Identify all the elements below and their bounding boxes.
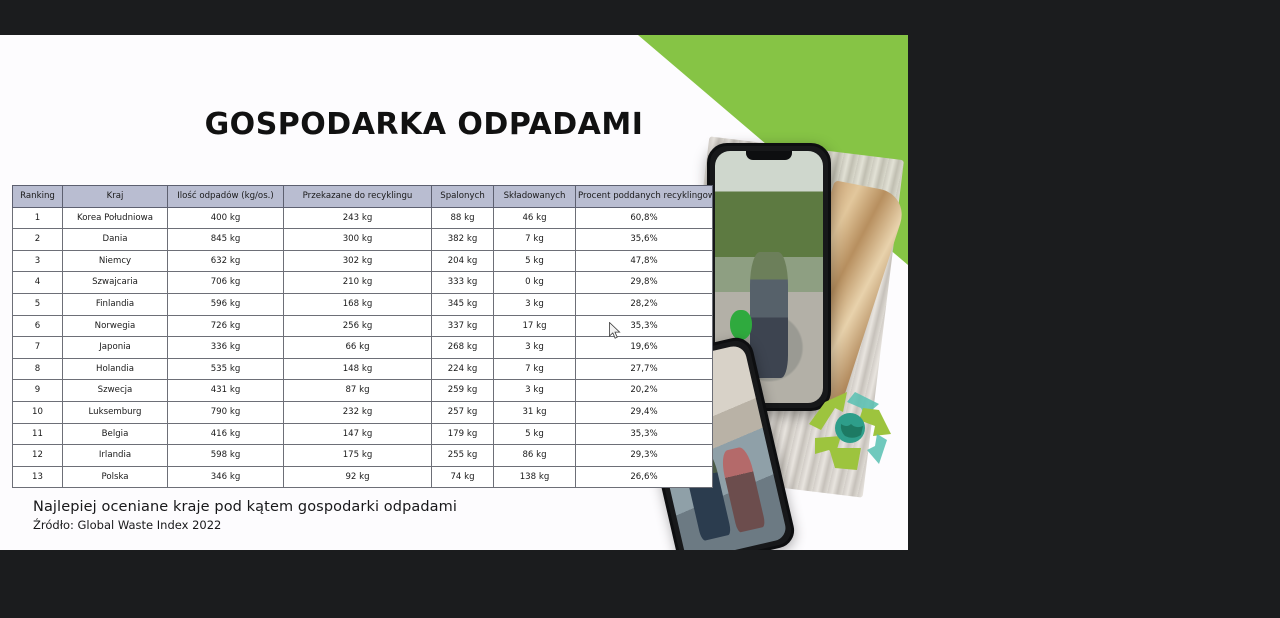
waste-table-container: RankingKrajIlość odpadów (kg/os.)Przekaz… (12, 185, 712, 488)
table-cell: Norwegia (63, 315, 168, 337)
table-cell: Holandia (63, 358, 168, 380)
table-row: 12Irlandia598 kg175 kg255 kg86 kg29,3% (13, 445, 713, 467)
table-cell: 19,6% (576, 337, 713, 359)
table-cell: 7 kg (494, 229, 576, 251)
table-cell: 5 kg (494, 423, 576, 445)
page-title: GOSPODARKA ODPADAMI (0, 107, 908, 142)
table-cell: 31 kg (494, 401, 576, 423)
participants-rail: ABRYS dla środowis Szymon Komosiński K (916, 0, 1280, 618)
table-row: 5Finlandia596 kg168 kg345 kg3 kg28,2% (13, 293, 713, 315)
table-cell: Szwecja (63, 380, 168, 402)
table-cell: 224 kg (432, 358, 494, 380)
table-row: 1Korea Południowa400 kg243 kg88 kg46 kg6… (13, 207, 713, 229)
table-cell: 88 kg (432, 207, 494, 229)
table-cell: 3 kg (494, 337, 576, 359)
table-cell: 29,3% (576, 445, 713, 467)
table-cell: 300 kg (284, 229, 432, 251)
table-cell: 87 kg (284, 380, 432, 402)
table-cell: 9 (13, 380, 63, 402)
table-cell: 256 kg (284, 315, 432, 337)
table-cell: 46 kg (494, 207, 576, 229)
phone-notch (746, 151, 792, 160)
table-cell: 3 (13, 250, 63, 272)
caption-source: Źródło: Global Waste Index 2022 (33, 518, 457, 532)
table-row: 11Belgia416 kg147 kg179 kg5 kg35,3% (13, 423, 713, 445)
table-row: 2Dania845 kg300 kg382 kg7 kg35,6% (13, 229, 713, 251)
table-cell: 257 kg (432, 401, 494, 423)
caption-heading: Najlepiej oceniane kraje pod kątem gospo… (33, 499, 457, 515)
table-cell: 66 kg (284, 337, 432, 359)
table-cell: 12 (13, 445, 63, 467)
table-cell: 29,4% (576, 401, 713, 423)
meeting-window: GOSPODARKA ODPADAMI RankingKrajIlość odp… (0, 0, 1280, 618)
slide-caption: Najlepiej oceniane kraje pod kątem gospo… (33, 499, 457, 532)
table-cell: 179 kg (432, 423, 494, 445)
table-cell: Niemcy (63, 250, 168, 272)
table-cell: 47,8% (576, 250, 713, 272)
table-cell: 13 (13, 466, 63, 488)
table-cell: 3 kg (494, 293, 576, 315)
recycling-arrows-icon (795, 380, 905, 488)
table-cell: 2 (13, 229, 63, 251)
table-cell: 632 kg (168, 250, 284, 272)
table-column-header: Spalonych (432, 186, 494, 208)
table-cell: 345 kg (432, 293, 494, 315)
table-header-row: RankingKrajIlość odpadów (kg/os.)Przekaz… (13, 186, 713, 208)
table-cell: 3 kg (494, 380, 576, 402)
table-row: 9Szwecja431 kg87 kg259 kg3 kg20,2% (13, 380, 713, 402)
table-cell: Szwajcaria (63, 272, 168, 294)
table-row: 3Niemcy632 kg302 kg204 kg5 kg47,8% (13, 250, 713, 272)
table-cell: 845 kg (168, 229, 284, 251)
table-cell: 138 kg (494, 466, 576, 488)
table-cell: 416 kg (168, 423, 284, 445)
table-cell: 148 kg (284, 358, 432, 380)
table-cell: 596 kg (168, 293, 284, 315)
table-cell: 74 kg (432, 466, 494, 488)
shared-screen-slide[interactable]: GOSPODARKA ODPADAMI RankingKrajIlość odp… (0, 35, 908, 550)
table-row: 10Luksemburg790 kg232 kg257 kg31 kg29,4% (13, 401, 713, 423)
table-cell: 168 kg (284, 293, 432, 315)
table-cell: 790 kg (168, 401, 284, 423)
table-body: 1Korea Południowa400 kg243 kg88 kg46 kg6… (13, 207, 713, 488)
table-cell: 4 (13, 272, 63, 294)
table-cell: 210 kg (284, 272, 432, 294)
table-cell: 5 kg (494, 250, 576, 272)
table-cell: 28,2% (576, 293, 713, 315)
table-cell: 8 (13, 358, 63, 380)
table-cell: 29,8% (576, 272, 713, 294)
table-cell: Belgia (63, 423, 168, 445)
table-cell: 302 kg (284, 250, 432, 272)
table-cell: Finlandia (63, 293, 168, 315)
table-cell: Irlandia (63, 445, 168, 467)
table-cell: 232 kg (284, 401, 432, 423)
table-cell: 175 kg (284, 445, 432, 467)
table-cell: 400 kg (168, 207, 284, 229)
table-cell: 268 kg (432, 337, 494, 359)
table-cell: 1 (13, 207, 63, 229)
table-row: 6Norwegia726 kg256 kg337 kg17 kg35,3% (13, 315, 713, 337)
table-cell: 598 kg (168, 445, 284, 467)
table-cell: Japonia (63, 337, 168, 359)
table-cell: 336 kg (168, 337, 284, 359)
table-cell: 35,3% (576, 423, 713, 445)
waste-management-table: RankingKrajIlość odpadów (kg/os.)Przekaz… (12, 185, 713, 488)
green-waste-bag (730, 310, 752, 340)
table-cell: 35,3% (576, 315, 713, 337)
table-column-header: Procent poddanych recyklingowi (576, 186, 713, 208)
table-cell: 10 (13, 401, 63, 423)
table-column-header: Ranking (13, 186, 63, 208)
table-cell: 7 kg (494, 358, 576, 380)
table-cell: 20,2% (576, 380, 713, 402)
table-cell: 7 (13, 337, 63, 359)
table-cell: 726 kg (168, 315, 284, 337)
table-cell: 35,6% (576, 229, 713, 251)
table-cell: 204 kg (432, 250, 494, 272)
table-row: 7Japonia336 kg66 kg268 kg3 kg19,6% (13, 337, 713, 359)
table-cell: 27,7% (576, 358, 713, 380)
table-cell: Dania (63, 229, 168, 251)
table-cell: 60,8% (576, 207, 713, 229)
table-cell: Polska (63, 466, 168, 488)
table-cell: 346 kg (168, 466, 284, 488)
table-column-header: Ilość odpadów (kg/os.) (168, 186, 284, 208)
table-cell: 333 kg (432, 272, 494, 294)
table-cell: Luksemburg (63, 401, 168, 423)
table-cell: 147 kg (284, 423, 432, 445)
table-cell: 706 kg (168, 272, 284, 294)
table-cell: 535 kg (168, 358, 284, 380)
table-cell: 0 kg (494, 272, 576, 294)
table-row: 13Polska346 kg92 kg74 kg138 kg26,6% (13, 466, 713, 488)
table-row: 4Szwajcaria706 kg210 kg333 kg0 kg29,8% (13, 272, 713, 294)
table-cell: 259 kg (432, 380, 494, 402)
table-cell: 5 (13, 293, 63, 315)
table-cell: 26,6% (576, 466, 713, 488)
table-cell: 86 kg (494, 445, 576, 467)
table-cell: 337 kg (432, 315, 494, 337)
table-cell: 431 kg (168, 380, 284, 402)
table-column-header: Przekazane do recyklingu (284, 186, 432, 208)
table-cell: 255 kg (432, 445, 494, 467)
table-row: 8Holandia535 kg148 kg224 kg7 kg27,7% (13, 358, 713, 380)
table-cell: 6 (13, 315, 63, 337)
table-cell: 382 kg (432, 229, 494, 251)
table-cell: 17 kg (494, 315, 576, 337)
table-cell: 243 kg (284, 207, 432, 229)
table-column-header: Składowanych (494, 186, 576, 208)
table-cell: Korea Południowa (63, 207, 168, 229)
table-cell: 92 kg (284, 466, 432, 488)
table-cell: 11 (13, 423, 63, 445)
table-column-header: Kraj (63, 186, 168, 208)
